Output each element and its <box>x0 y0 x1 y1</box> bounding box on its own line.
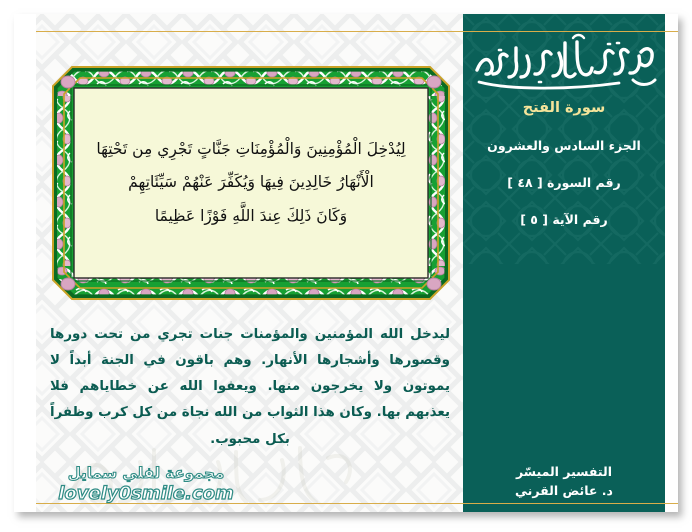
brand-title <box>469 30 659 92</box>
tafsir-body-text: ليدخل الله المؤمنين والمؤمنات جنات تجري … <box>50 322 450 453</box>
screenshot-root: سورة الفتح الجزء السادس والعشرون رقم الس… <box>0 0 692 532</box>
juz-label: الجزء السادس والعشرون <box>487 138 641 153</box>
left-white-margin <box>14 14 36 512</box>
right-white-margin <box>665 14 678 512</box>
sidebar-content: سورة الفتح الجزء السادس والعشرون رقم الس… <box>463 14 665 512</box>
verse-line: الْأَنْهَارُ خَالِدِينَ فِيهَا وَيُكَفِّ… <box>74 171 428 194</box>
gold-rule-top <box>36 31 678 32</box>
watermark-arabic-text: مجموعة لفلي سمايل <box>68 464 225 482</box>
tafsir-author: د. عائض القرني <box>463 481 665 500</box>
quran-verse-text: لِيُدْخِلَ الْمُؤْمِنِينَ وَالْمُؤْمِنَا… <box>74 84 428 282</box>
sidebar-footer: التفسير الميسّر د. عائض القرني <box>463 462 665 501</box>
verse-line: وَكَانَ ذَلِكَ عِندَ اللَّهِ فَوْزًا عَظ… <box>74 205 428 228</box>
site-watermark: مجموعة لفلي سمايل lovely0smile.com <box>42 461 252 509</box>
ayah-number-label: رقم الآية [ ٥ ] <box>520 212 608 227</box>
tafsir-source-title: التفسير الميسّر <box>463 462 665 481</box>
verse-line: لِيُدْخِلَ الْمُؤْمِنِينَ وَالْمُؤْمِنَا… <box>74 138 428 161</box>
surah-name: سورة الفتح <box>523 100 606 116</box>
page-card: سورة الفتح الجزء السادس والعشرون رقم الس… <box>14 14 678 512</box>
surah-number-label: رقم السورة [ ٤٨ ] <box>507 175 620 190</box>
sidebar-panel: سورة الفتح الجزء السادس والعشرون رقم الس… <box>463 14 665 512</box>
watermark-domain-text: lovely0smile.com <box>58 483 234 504</box>
